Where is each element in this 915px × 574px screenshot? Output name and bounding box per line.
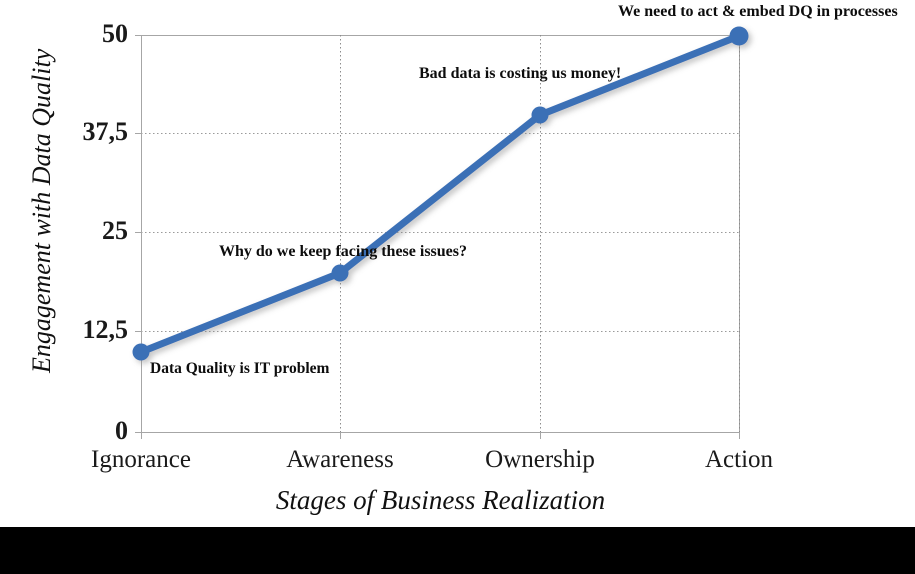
annotation-awareness: Why do we keep facing these issues? <box>219 243 467 261</box>
bottom-black-band <box>0 527 915 574</box>
y-tick-mark-50 <box>135 35 142 36</box>
y-tick-label-37-5: 37,5 <box>8 119 128 145</box>
x-tick-mark-ownership <box>540 432 541 439</box>
gridline-horizontal-37-5 <box>141 133 740 134</box>
plot-border-top <box>141 35 740 36</box>
series-polyline <box>141 36 739 352</box>
y-tick-label-25: 25 <box>8 218 128 244</box>
x-tick-label-ignorance: Ignorance <box>31 446 251 475</box>
chart-container: 50 37,5 25 12,5 0 Ignorance Awareness Ow… <box>0 0 915 574</box>
gridline-vertical-ownership <box>540 35 541 433</box>
annotation-ignorance: Data Quality is IT problem <box>150 360 329 377</box>
y-tick-label-0: 0 <box>8 418 128 444</box>
x-tick-mark-awareness <box>340 432 341 439</box>
x-tick-mark-action <box>739 432 740 439</box>
y-tick-mark-12-5 <box>135 331 142 332</box>
x-tick-label-awareness: Awareness <box>230 446 450 475</box>
y-tick-mark-37-5 <box>135 133 142 134</box>
y-tick-label-50: 50 <box>8 21 128 47</box>
x-axis-line <box>141 432 740 433</box>
gridline-vertical-awareness <box>340 35 341 433</box>
y-axis-line <box>141 35 142 433</box>
annotation-ownership: Bad data is costing us money! <box>419 65 621 83</box>
gridline-horizontal-12-5 <box>141 331 740 332</box>
y-tick-mark-25 <box>135 232 142 233</box>
gridline-horizontal-25 <box>141 232 740 233</box>
x-tick-label-ownership: Ownership <box>430 446 650 475</box>
gridline-vertical-action <box>739 35 740 433</box>
x-tick-label-action: Action <box>629 446 849 475</box>
annotation-action: We need to act & embed DQ in processes <box>618 3 898 21</box>
x-axis-title: Stages of Business Realization <box>141 485 740 516</box>
y-axis-title: Engagement with Data Quality <box>27 53 57 373</box>
y-tick-label-12-5: 12,5 <box>8 317 128 343</box>
x-tick-mark-ignorance <box>141 432 142 439</box>
